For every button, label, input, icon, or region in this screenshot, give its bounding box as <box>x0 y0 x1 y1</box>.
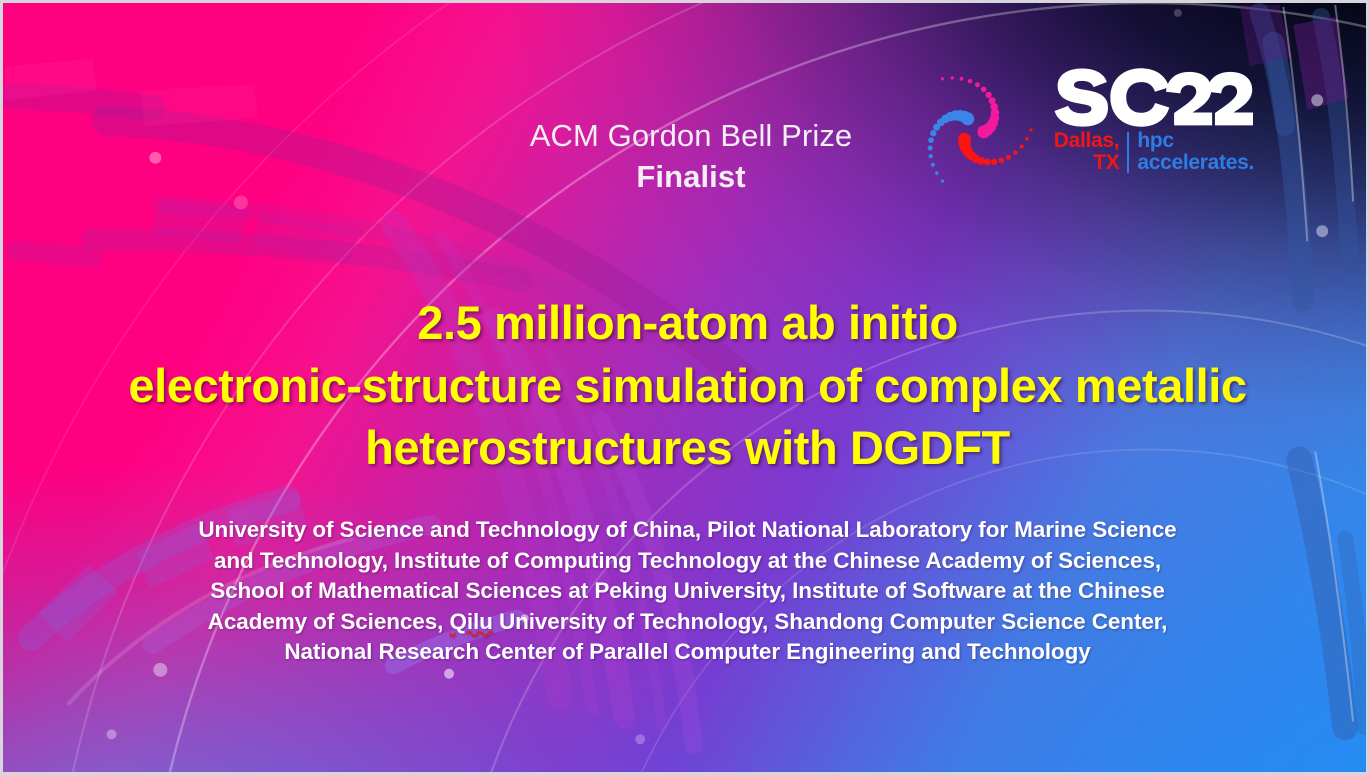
title-line-2: electronic-structure simulation of compl… <box>43 355 1332 418</box>
affiliation-line-1: University of Science and Technology of … <box>63 515 1312 546</box>
title-slide: ACM Gordon Bell Prize Finalist <box>0 0 1369 775</box>
misspelled-word-qilu: Qilu <box>449 609 492 634</box>
affiliation-line-4-before: Academy of Sciences, <box>208 609 450 634</box>
sc22-wordmark-block: Dallas, TX hpc accelerates. <box>1052 67 1254 193</box>
affiliation-list: University of Science and Technology of … <box>63 515 1312 668</box>
page-title: 2.5 million-atom ab initio electronic-st… <box>43 292 1332 480</box>
sc22-dot-spiral-icon <box>906 64 1038 196</box>
title-line-1: 2.5 million-atom ab initio <box>43 292 1332 355</box>
prize-award-label: ACM Gordon Bell Prize <box>530 118 853 153</box>
sc22-tagline-label: hpc accelerates. <box>1129 130 1254 173</box>
affiliation-line-5: National Research Center of Parallel Com… <box>63 637 1312 668</box>
sc22-logo: Dallas, TX hpc accelerates. <box>906 55 1258 205</box>
prize-status-label: Finalist <box>391 156 991 197</box>
sc22-city-label: Dallas, TX <box>1054 130 1128 173</box>
title-line-3: heterostructures with DGDFT <box>43 417 1332 480</box>
prize-header: ACM Gordon Bell Prize Finalist <box>391 115 991 197</box>
sc22-wordmark-icon <box>1052 67 1254 128</box>
affiliation-line-4-after: University of Technology, Shandong Compu… <box>493 609 1168 634</box>
sc22-tagline-row: Dallas, TX hpc accelerates. <box>1052 130 1254 173</box>
affiliation-line-4: Academy of Sciences, Qilu University of … <box>63 607 1312 638</box>
affiliation-line-2: and Technology, Institute of Computing T… <box>63 546 1312 577</box>
affiliation-line-3: School of Mathematical Sciences at Pekin… <box>63 576 1312 607</box>
